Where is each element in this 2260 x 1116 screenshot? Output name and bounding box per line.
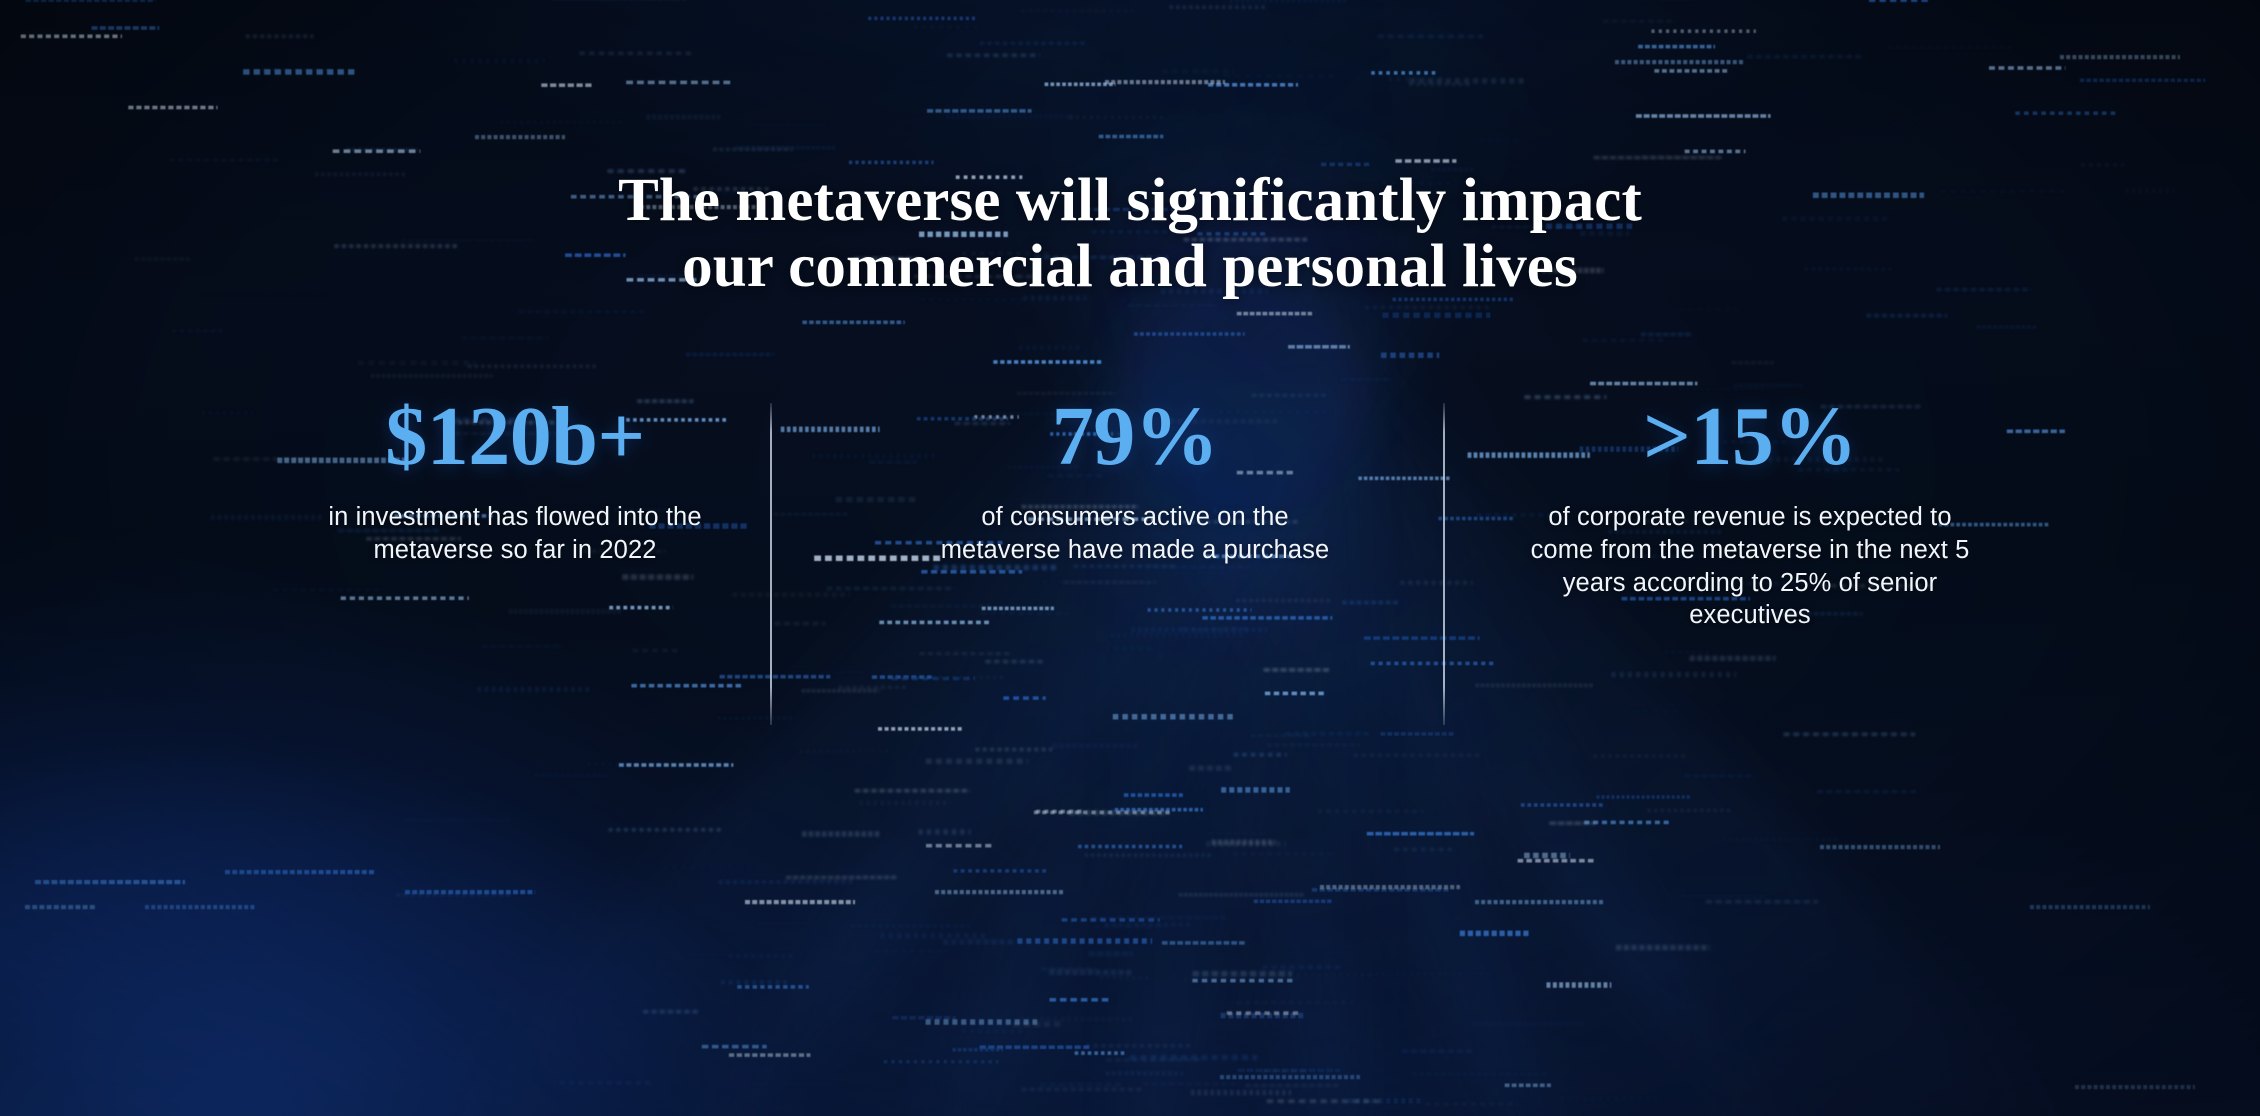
stat-divider-2 [1443,403,1445,725]
stat-block-investment: $120b+ in investment has flowed into the… [215,395,815,567]
stat-value: >15% [1455,395,2045,479]
stat-value: $120b+ [215,395,815,479]
stat-block-consumers: 79% of consumers active on the metaverse… [815,395,1455,567]
stat-description: of consumers active on the metaverse hav… [935,501,1335,567]
stat-divider-1 [770,403,772,725]
stat-description: of corporate revenue is expected to come… [1530,501,1970,633]
stat-value: 79% [815,395,1455,479]
stat-block-revenue: >15% of corporate revenue is expected to… [1455,395,2045,633]
stats-row: $120b+ in investment has flowed into the… [105,395,2155,633]
slide-content: The metaverse will significantly impact … [0,0,2260,1116]
stat-description: in investment has flowed into the metave… [305,501,725,567]
page-title-line-2: our commercial and personal lives [390,234,1870,300]
slide-canvas: The metaverse will significantly impact … [0,0,2260,1116]
page-title-line-1: The metaverse will significantly impact [618,167,1642,234]
page-title: The metaverse will significantly impact … [390,168,1870,300]
